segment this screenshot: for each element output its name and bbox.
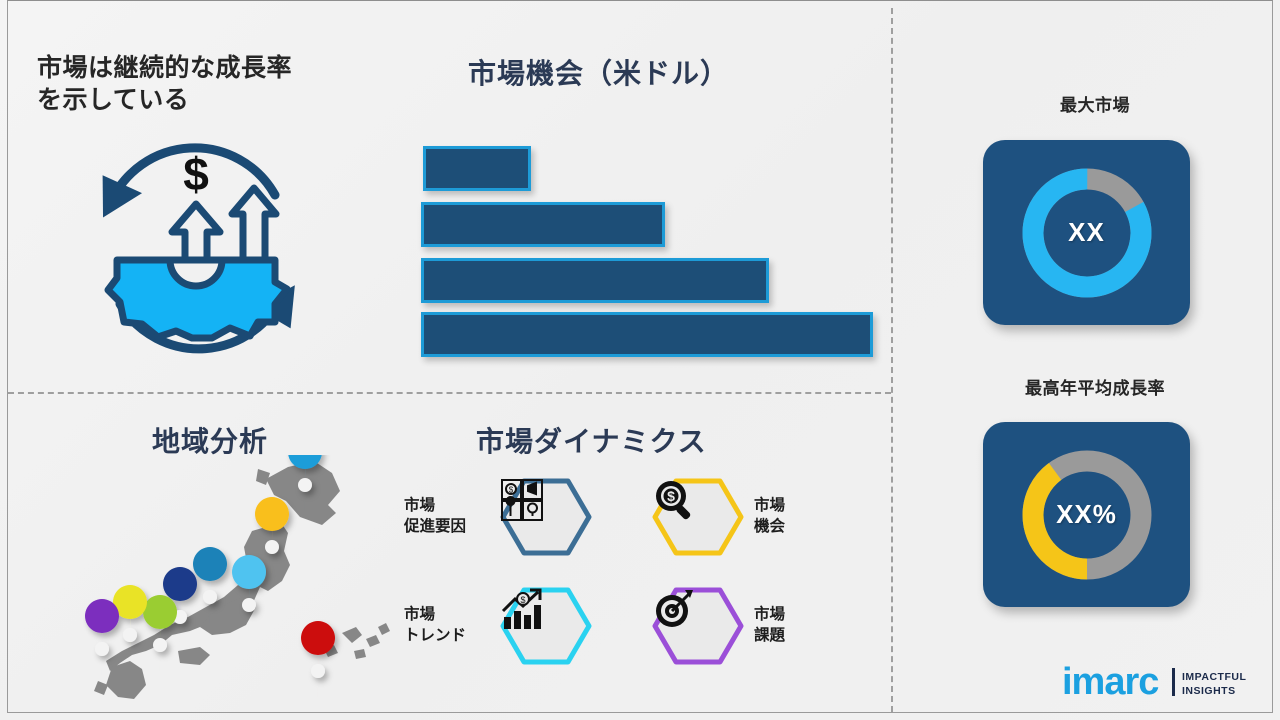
dynamics-item-drivers[interactable]: 市場 促進要因 $: [404, 478, 592, 556]
market-opportunity-bar-chart: [418, 146, 878, 346]
dollar-magnifier-icon: $: [652, 478, 744, 556]
dynamics-item-drivers-label: 市場 促進要因: [404, 496, 500, 538]
svg-text:$: $: [183, 148, 209, 200]
svg-text:$: $: [667, 488, 675, 504]
region-section-title: 地域分析: [152, 420, 268, 460]
largest-market-label: 最大市場: [1060, 96, 1130, 115]
dynamics-item-drivers-hex: $: [500, 478, 592, 556]
logo-wordmark: imarc: [1062, 662, 1159, 702]
highest-cagr-value: XX%: [983, 422, 1190, 607]
logo-tagline-line2: INSIGHTS: [1182, 685, 1236, 697]
svg-text:$: $: [520, 595, 525, 605]
dynamics-section-title: 市場ダイナミクス: [476, 420, 707, 460]
largest-market-title: 最大市場: [0, 95, 1280, 117]
pin-okinawa: [301, 621, 335, 697]
dynamics-item-opportunities-label: 市場 機会: [754, 496, 850, 538]
largest-market-card: XX: [983, 140, 1190, 325]
logo-tagline-line1: IMPACTFUL: [1182, 671, 1246, 683]
dynamics-item-challenges-hex: [652, 587, 744, 665]
growth-cycle-gear-dollar-icon: $: [72, 132, 320, 370]
growth-bar-chart-icon: $: [500, 587, 592, 665]
bar-row-1: [423, 146, 531, 191]
opportunity-section-title: 市場機会（米ドル）: [468, 52, 729, 92]
dynamics-item-challenges[interactable]: 市場 課題: [652, 587, 850, 665]
dynamics-item-opportunities[interactable]: $ 市場 機会: [652, 478, 850, 556]
largest-market-value: XX: [983, 140, 1190, 325]
slide-canvas: 市場は継続的な成長率 を示している $ 市場機会: [0, 0, 1280, 720]
japan-map: [60, 455, 400, 703]
logo-divider: [1172, 668, 1175, 696]
market-dynamics-grid: 市場 促進要因 $: [404, 478, 844, 678]
highest-cagr-card: XX%: [983, 422, 1190, 607]
dynamics-item-trends-hex: $: [500, 587, 592, 665]
highest-cagr-label: 最高年平均成長率: [1025, 379, 1165, 398]
dynamics-item-opportunities-hex: $: [652, 478, 744, 556]
bar-row-3: [421, 258, 769, 303]
highest-cagr-title: 最高年平均成長率: [0, 378, 1280, 400]
svg-text:$: $: [509, 486, 514, 495]
dynamics-item-trends-label: 市場 トレンド: [404, 605, 500, 647]
dynamics-item-trends[interactable]: 市場 トレンド: [404, 587, 592, 665]
target-dart-icon: [652, 587, 744, 665]
puzzle-pieces-icon: $: [500, 478, 592, 556]
bar-row-2: [421, 202, 665, 247]
dynamics-item-challenges-label: 市場 課題: [754, 605, 850, 647]
bar-row-4: [421, 312, 873, 357]
imarc-logo: imarc IMPACTFUL INSIGHTS: [1062, 662, 1248, 702]
